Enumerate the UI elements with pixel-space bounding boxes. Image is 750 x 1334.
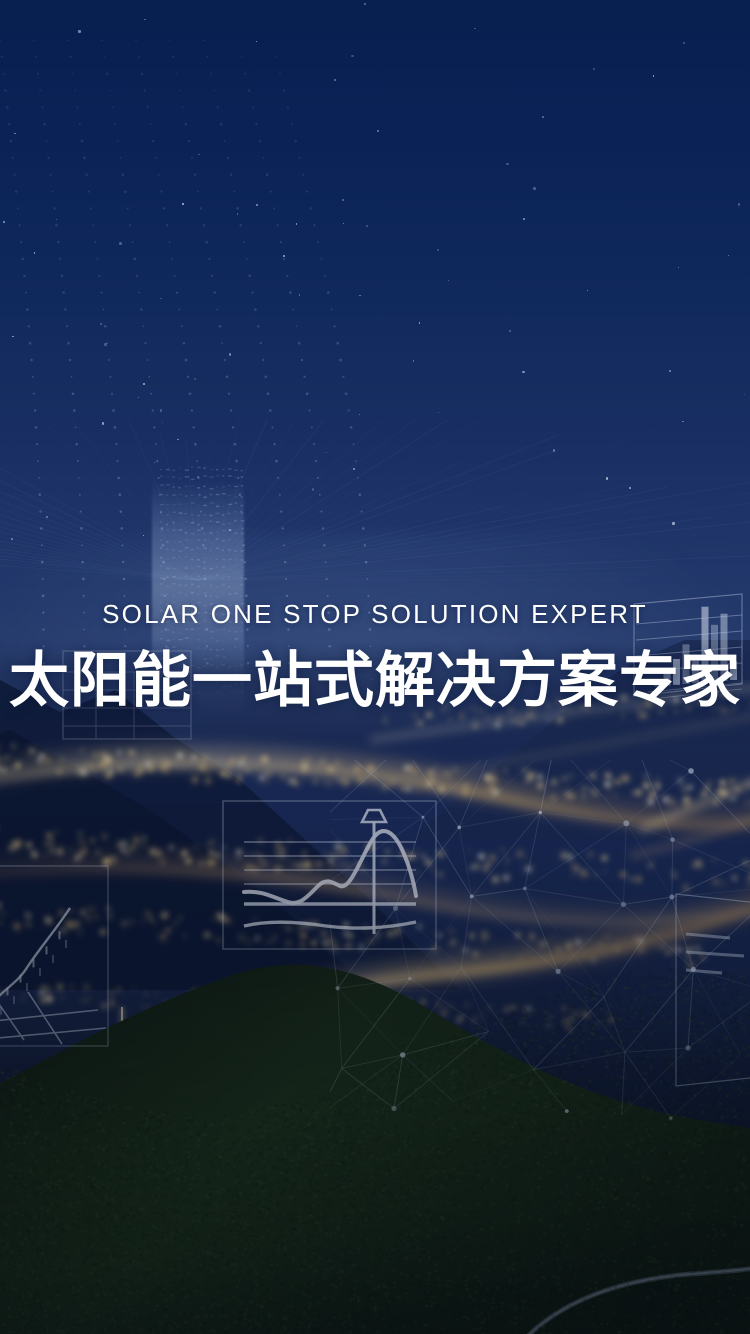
city-light [385, 721, 387, 723]
city-light [474, 719, 476, 721]
city-light [195, 846, 197, 848]
city-light [162, 758, 164, 760]
city-light [211, 841, 214, 844]
city-light [118, 843, 122, 847]
city-light [127, 852, 129, 854]
city-light [95, 754, 98, 757]
city-light [81, 841, 84, 844]
city-light [321, 761, 324, 764]
city-light [92, 754, 94, 756]
city-light [246, 769, 249, 772]
city-light [260, 776, 264, 780]
city-light [12, 745, 14, 747]
city-light [58, 770, 61, 773]
city-light [71, 849, 73, 851]
city-light [57, 830, 59, 832]
city-light [16, 763, 21, 768]
city-light [664, 714, 665, 715]
city-light [161, 860, 165, 864]
city-light [27, 843, 31, 847]
city-light [208, 860, 213, 865]
city-light [151, 760, 153, 762]
city-light [119, 768, 122, 771]
city-light [141, 766, 143, 768]
city-light [79, 833, 82, 836]
city-light [82, 767, 85, 770]
city-light [519, 714, 520, 715]
city-light [203, 757, 207, 761]
city-light [134, 838, 139, 843]
hero-copy: SOLAR ONE STOP SOLUTION EXPERT 太阳能一站式解决方… [0, 598, 750, 714]
city-light [3, 758, 5, 760]
city-light [314, 780, 317, 783]
city-light [411, 722, 412, 723]
city-light [47, 834, 51, 838]
city-light [58, 849, 63, 854]
city-light [211, 853, 213, 855]
city-light [295, 782, 298, 785]
city-light [82, 849, 86, 853]
city-light [178, 753, 183, 758]
city-light [513, 720, 516, 723]
city-light [45, 854, 47, 856]
city-light [166, 762, 170, 766]
city-light [416, 716, 417, 717]
city-light [238, 773, 241, 776]
city-light [419, 722, 422, 725]
city-light [40, 754, 45, 759]
city-light [548, 719, 550, 721]
city-light [132, 845, 135, 848]
city-light [303, 765, 307, 769]
city-light [112, 857, 115, 860]
city-light [106, 773, 111, 778]
city-light [302, 761, 304, 763]
city-light [48, 842, 52, 846]
city-light [143, 837, 145, 839]
city-light [173, 764, 175, 766]
city-light [46, 759, 50, 763]
city-light [520, 722, 522, 724]
city-light [91, 839, 94, 842]
city-light [325, 780, 327, 782]
city-light [200, 862, 203, 865]
city-light [12, 769, 14, 771]
city-light [206, 779, 211, 784]
city-light [498, 717, 501, 720]
city-light [487, 716, 489, 718]
city-light [45, 844, 47, 846]
city-light [460, 715, 463, 718]
city-light [81, 749, 83, 751]
city-light [216, 854, 220, 858]
city-light [558, 718, 562, 722]
city-light [151, 849, 156, 854]
city-light [227, 773, 231, 777]
city-light [89, 764, 92, 767]
city-light [148, 769, 150, 771]
city-light [208, 843, 210, 845]
city-light [242, 757, 245, 760]
city-light [206, 772, 208, 774]
city-light [97, 851, 99, 853]
city-light [143, 844, 145, 846]
city-light [287, 782, 289, 784]
line-chart-panel [222, 800, 437, 950]
city-light [526, 715, 529, 718]
city-light [414, 714, 416, 716]
city-light [186, 859, 191, 864]
city-light [78, 770, 81, 773]
city-light [382, 720, 383, 721]
hero-eyebrow: SOLAR ONE STOP SOLUTION EXPERT [0, 598, 750, 631]
city-light [41, 760, 43, 762]
city-light [233, 760, 235, 762]
city-light [265, 773, 267, 775]
city-light [82, 770, 86, 774]
city-light [496, 723, 500, 727]
city-light [77, 840, 78, 841]
city-light [282, 775, 285, 778]
city-light [307, 759, 310, 762]
city-light [52, 842, 53, 843]
city-light [192, 756, 196, 760]
city-light [149, 766, 153, 770]
stock-chart-panel [0, 862, 118, 1062]
city-light [146, 753, 148, 755]
city-light [237, 778, 241, 782]
city-light [182, 851, 187, 856]
city-light [262, 757, 267, 762]
city-light [135, 772, 139, 776]
city-light [640, 714, 643, 717]
hero-banner: SOLAR ONE STOP SOLUTION EXPERT 太阳能一站式解决方… [0, 0, 750, 1334]
city-light [16, 841, 21, 846]
city-light [93, 768, 95, 770]
city-light [10, 846, 13, 849]
city-light [221, 771, 226, 776]
city-light [200, 765, 205, 770]
city-light [75, 857, 78, 860]
city-light [30, 749, 34, 753]
city-light [536, 720, 537, 721]
city-light [130, 751, 134, 755]
city-light [51, 849, 54, 852]
city-light [193, 777, 198, 782]
city-light [157, 851, 161, 855]
city-light [266, 781, 268, 783]
city-light [384, 717, 386, 719]
city-light [622, 717, 624, 719]
city-light [303, 781, 305, 783]
city-light [324, 784, 326, 786]
city-light [326, 767, 328, 769]
city-light [78, 853, 82, 857]
city-light [415, 723, 416, 724]
city-light [2, 769, 6, 773]
frame-panel [668, 890, 750, 1090]
city-light [33, 853, 37, 857]
city-light [449, 718, 451, 720]
city-light [227, 764, 230, 767]
city-light [129, 848, 132, 851]
city-light [162, 766, 165, 769]
city-light [240, 761, 244, 765]
city-light [138, 769, 142, 773]
city-light [103, 835, 106, 838]
city-light [105, 757, 109, 761]
city-light [474, 725, 476, 727]
city-light [170, 846, 173, 849]
city-light [60, 759, 63, 762]
city-light [268, 772, 271, 775]
city-light [118, 751, 121, 754]
city-light [122, 848, 126, 852]
page-title: 太阳能一站式解决方案专家 [0, 647, 750, 714]
